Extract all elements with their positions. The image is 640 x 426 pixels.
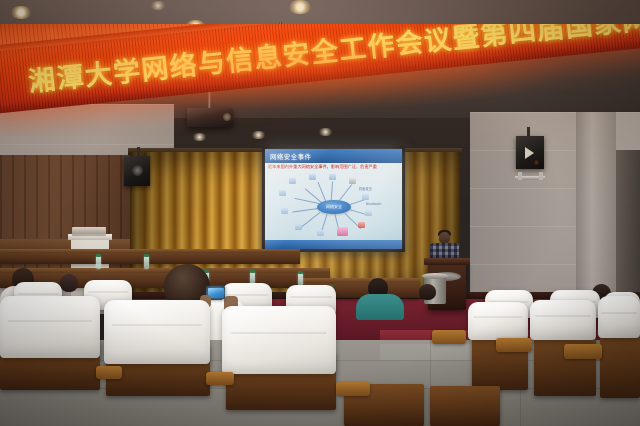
attendee-head — [60, 274, 78, 292]
speaker-cone — [132, 165, 143, 176]
trash-bin-rim — [422, 273, 448, 279]
attendee-head — [419, 284, 436, 300]
lectern-top — [424, 258, 470, 265]
diagram-node — [358, 222, 365, 228]
seat-armrest — [96, 366, 122, 379]
diagram-node-label: Bluetooth — [366, 202, 381, 206]
diagram-node — [281, 208, 288, 214]
seat-armrest — [564, 344, 602, 359]
diagram-node — [349, 178, 356, 184]
audience-desk-top — [0, 249, 300, 253]
seat-cover[interactable] — [104, 300, 210, 364]
speaker-logo-icon — [525, 147, 534, 159]
audience-desk-top — [300, 278, 420, 283]
diagram-node — [337, 227, 348, 236]
seat-cover[interactable] — [222, 306, 336, 374]
seat-armrest — [432, 330, 466, 344]
diagram-node — [362, 194, 369, 200]
diagram-hub-label: 网络安全 — [317, 204, 351, 210]
shelf-bracket — [539, 172, 543, 180]
slide-subtitle: 近年来国内外重大网络安全事件，影响范围广泛、危害严重 — [268, 164, 400, 171]
seat-cover[interactable] — [530, 300, 596, 340]
wall-speaker-right — [516, 136, 544, 169]
seat-armrest — [206, 372, 234, 385]
ceiling-spotlight — [288, 0, 312, 14]
auditorium-photo: 网络安全事件 近年来国内外重大网络安全事件，影响范围广泛、危害严重 — [0, 0, 640, 426]
diagram-spoke — [292, 208, 318, 213]
floor-tile-highlight — [380, 344, 470, 360]
seat-cover[interactable] — [0, 296, 100, 358]
slide-diagram: Bluetooth 钓鱼攻击 网络安全 — [265, 172, 402, 241]
slide-footer-bar — [265, 240, 402, 249]
water-bottle — [96, 256, 101, 269]
diagram-node — [309, 174, 316, 180]
slide-title: 网络安全事件 — [270, 151, 311, 161]
side-table-equipment — [72, 227, 106, 236]
diagram-node-label: 钓鱼攻击 — [359, 186, 372, 191]
ceiling-spotlight — [10, 6, 32, 19]
bottle-cap — [144, 254, 149, 257]
seat-armrest — [336, 382, 370, 396]
seat-cover[interactable] — [468, 302, 528, 340]
attendee-shoulders — [356, 294, 404, 320]
speaker-cone — [534, 160, 539, 165]
bottle-cap — [298, 271, 303, 274]
diagram-node — [329, 174, 336, 180]
diagram-node — [317, 230, 324, 236]
bottle-cap — [250, 270, 255, 273]
diagram-node — [289, 178, 296, 184]
diagram-node — [279, 190, 286, 196]
bottle-cap — [96, 254, 101, 257]
wall-speaker-left — [124, 156, 150, 186]
seat-armrest — [496, 338, 532, 352]
audience-desk — [0, 252, 300, 264]
diagram-node — [365, 210, 372, 216]
diagram-node — [295, 224, 302, 230]
projection-screen: 网络安全事件 近年来国内外重大网络安全事件，影响范围广泛、危害严重 — [265, 149, 402, 249]
shelf-bracket — [518, 172, 522, 180]
ceiling-spotlight — [150, 1, 166, 10]
led-banner: 湘潭大学网络与信息安全工作会议暨第四届国家网络安全宣传周知识讲座 — [0, 24, 640, 136]
diagram-hub: 网络安全 — [317, 200, 351, 214]
audience-desk-top — [0, 268, 330, 273]
seat-frame — [430, 386, 500, 426]
water-bottle — [144, 256, 149, 269]
seat-cover[interactable] — [598, 296, 640, 338]
seat-frame — [600, 328, 640, 398]
diagram-spoke — [301, 212, 321, 228]
